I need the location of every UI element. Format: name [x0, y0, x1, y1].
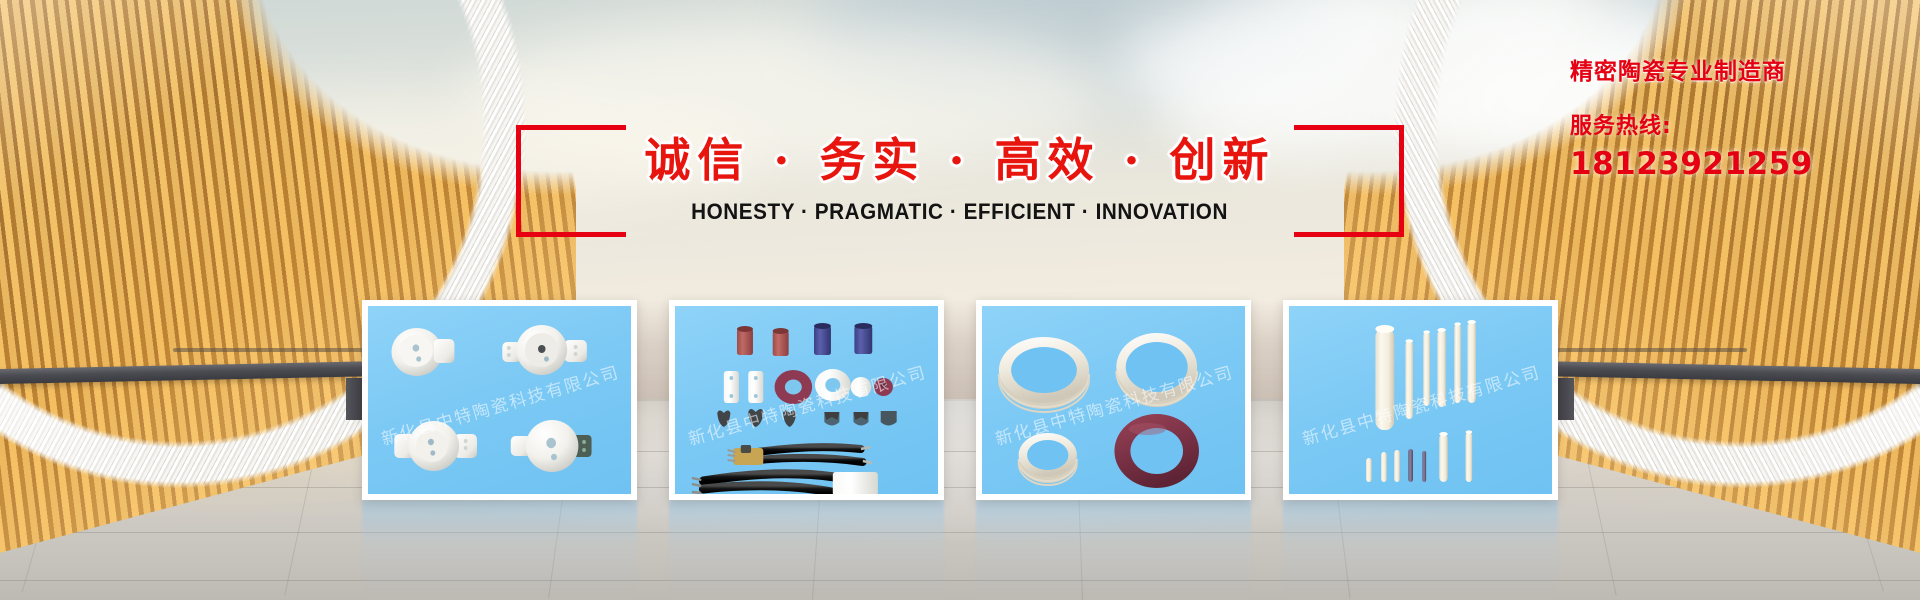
panel-photo: 新化县中特陶瓷科技有限公司: [675, 306, 938, 494]
bracket-left-icon: [516, 125, 626, 237]
lamp-holder-illustration: [368, 306, 631, 494]
slogan-chinese: 诚信 · 务实 · 高效 · 创新: [644, 137, 1275, 183]
connector-parts-illustration: [675, 306, 938, 494]
product-panel-row: 新化县中特陶瓷科技有限公司: [362, 300, 1558, 500]
contact-block: 精密陶瓷专业制造商 服务热线: 18123921259: [1570, 52, 1870, 182]
product-panel-rods[interactable]: 新化县中特陶瓷科技有限公司: [1283, 300, 1558, 500]
banner-root: 诚信 · 务实 · 高效 · 创新 HONESTY · PRAGMATIC · …: [0, 0, 1920, 600]
ceramic-rod-illustration: [1289, 306, 1552, 494]
handrail-post: [1558, 378, 1574, 420]
panel-photo: 新化县中特陶瓷科技有限公司: [982, 306, 1245, 494]
slogan-english: HONESTY · PRAGMATIC · EFFICIENT · INNOVA…: [692, 199, 1229, 225]
handrail-post: [346, 378, 362, 420]
panel-photo: 新化县中特陶瓷科技有限公司: [1289, 306, 1552, 494]
panel-photo: 新化县中特陶瓷科技有限公司: [368, 306, 631, 494]
product-panel-lamp-holders[interactable]: 新化县中特陶瓷科技有限公司: [362, 300, 637, 500]
slogan-text-group: 诚信 · 务实 · 高效 · 创新 HONESTY · PRAGMATIC · …: [626, 125, 1293, 237]
product-panel-connectors[interactable]: 新化县中特陶瓷科技有限公司: [669, 300, 944, 500]
ceramic-ring-illustration: [982, 306, 1245, 494]
product-panel-rings[interactable]: 新化县中特陶瓷科技有限公司: [976, 300, 1251, 500]
hotline-number[interactable]: 18123921259: [1570, 146, 1870, 182]
hotline-label: 服务热线:: [1570, 108, 1870, 140]
company-tagline: 精密陶瓷专业制造商: [1570, 52, 1870, 86]
bracket-right-icon: [1294, 125, 1404, 237]
